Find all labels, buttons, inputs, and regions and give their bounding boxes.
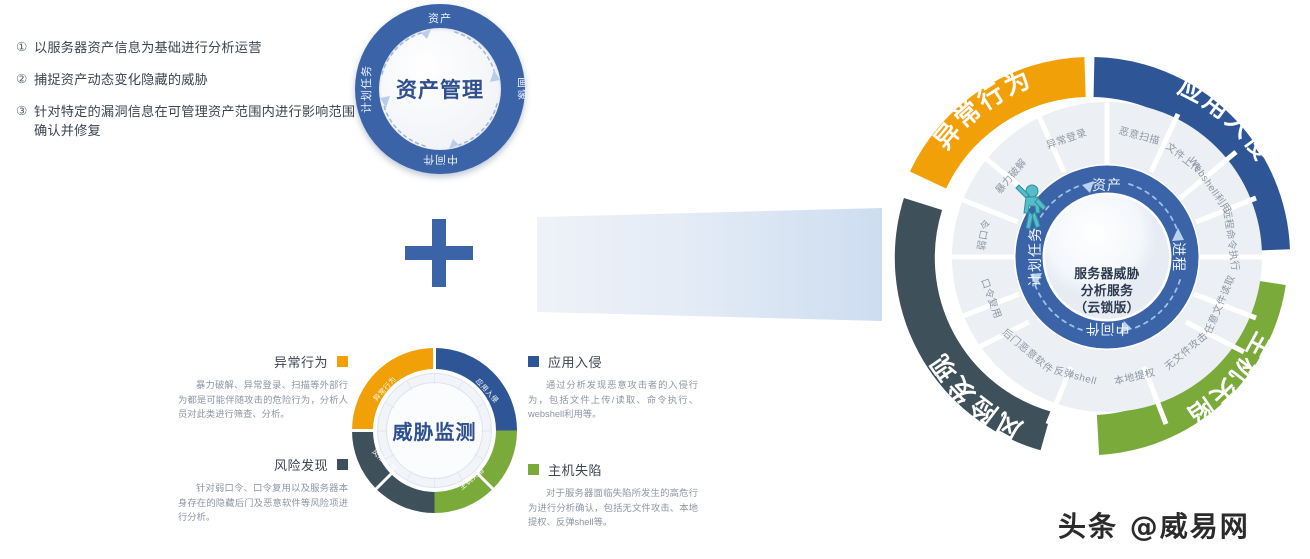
asset-management-ring: 资产 画像 中间件 计划任务 资产管理: [355, 4, 525, 174]
plus-vertical-bar: [432, 219, 446, 287]
legend-title: 风险发现: [274, 455, 328, 474]
legend-swatch-icon: [337, 459, 348, 470]
legend-header: 异常行为: [178, 352, 348, 371]
legend-risk-discovery: 风险发现 针对弱口令、口令复用以及服务器本身存在的隐藏后门及恶意软件等风险项进行…: [178, 455, 348, 525]
bullet-text: 捕捉资产动态变化隐藏的威胁: [34, 70, 358, 89]
legend-swatch-icon: [337, 356, 348, 367]
legend-header: 风险发现: [178, 455, 348, 474]
bullet-number: ①: [8, 38, 34, 56]
legend-header: 应用入侵: [528, 352, 698, 371]
legend-swatch-icon: [528, 356, 539, 367]
legend-body: 通过分析发现恶意攻击者的入侵行为，包括文件上传/读取、命令执行、webshell…: [528, 378, 698, 422]
legend-header: 主机失陷: [528, 460, 698, 479]
bullet-text: 针对特定的漏洞信息在可管理资产范围内进行影响范围确认并修复: [34, 102, 358, 140]
legend-body: 暴力破解、异常登录、扫描等外部行为都是可能伴随攻击的危险行为，分析人员对此类进行…: [178, 378, 348, 422]
connector-funnel: [537, 208, 882, 321]
legend-title: 异常行为: [274, 352, 328, 371]
bullet-list: ① 以服务器资产信息为基础进行分析运营 ② 捕捉资产动态变化隐藏的威胁 ③ 针对…: [8, 38, 358, 153]
legend-body: 对于服务器面临失陷所发生的高危行为进行分析确认，包括无文件攻击、本地提权、反弹s…: [528, 486, 698, 530]
list-item: ① 以服务器资产信息为基础进行分析运营: [8, 38, 358, 57]
plus-symbol: [405, 219, 473, 287]
list-item: ② 捕捉资产动态变化隐藏的威胁: [8, 70, 358, 89]
threat-monitoring-ring: 异常行为 应用入侵 主机失陷 风险发现 威胁监测: [352, 348, 517, 513]
big-diagram-center: 服务器威胁 分析服务 （云锁版）: [1032, 182, 1182, 332]
list-item: ③ 针对特定的漏洞信息在可管理资产范围内进行影响范围确认并修复: [8, 102, 358, 140]
server-threat-analysis-diagram: 异常行为 应用入侵 主机失陷 风险发现 恶意扫描异常登录暴力破解弱口令口令复用后…: [866, 22, 1306, 492]
watermark: 头条 @威易网: [1058, 505, 1250, 545]
infographic-canvas: ① 以服务器资产信息为基础进行分析运营 ② 捕捉资产动态变化隐藏的威胁 ③ 针对…: [0, 0, 1310, 559]
legend-title: 应用入侵: [548, 352, 602, 371]
bullet-number: ③: [8, 102, 34, 120]
asset-ring-center-label: 资产管理: [355, 4, 525, 174]
legend-host-compromise: 主机失陷 对于服务器面临失陷所发生的高危行为进行分析确认，包括无文件攻击、本地提…: [528, 460, 698, 530]
center-title-line-3: （云锁版）: [1074, 299, 1139, 316]
bullet-text: 以服务器资产信息为基础进行分析运营: [34, 38, 358, 57]
legend-title: 主机失陷: [548, 460, 602, 479]
monitoring-center-label: 威胁监测: [352, 348, 517, 513]
legend-swatch-icon: [528, 464, 539, 475]
legend-body: 针对弱口令、口令复用以及服务器本身存在的隐藏后门及恶意软件等风险项进行分析。: [178, 481, 348, 525]
legend-abnormal-behavior: 异常行为 暴力破解、异常登录、扫描等外部行为都是可能伴随攻击的危险行为，分析人员…: [178, 352, 348, 422]
center-title-line-2: 分析服务: [1081, 282, 1133, 299]
center-title-line-1: 服务器威胁: [1074, 265, 1139, 282]
bullet-number: ②: [8, 70, 34, 88]
legend-app-intrusion: 应用入侵 通过分析发现恶意攻击者的入侵行为，包括文件上传/读取、命令执行、web…: [528, 352, 698, 422]
person-icon: [1012, 182, 1052, 234]
